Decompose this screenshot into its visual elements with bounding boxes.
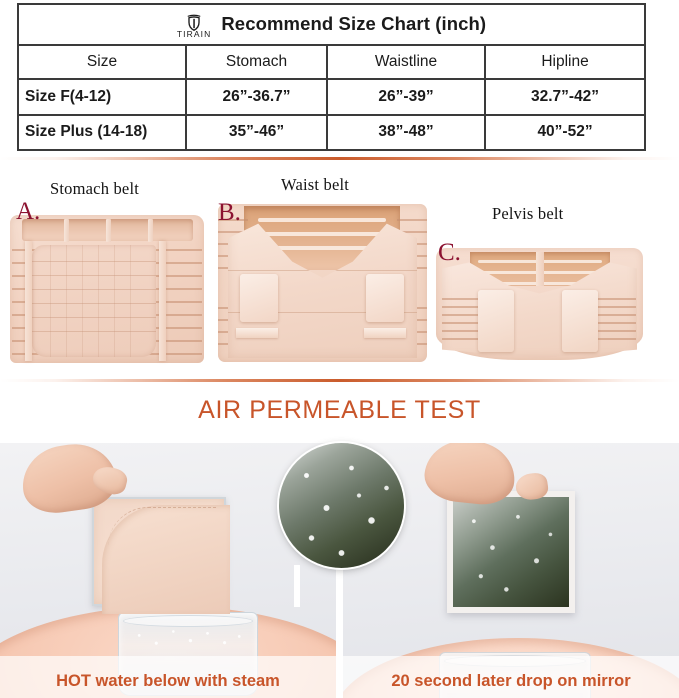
cell-waistline: 38”-48” [327, 115, 485, 151]
belt-letter-a: A. [16, 199, 40, 224]
chart-title-cell: TIRAIN Recommend Size Chart (inch) [18, 4, 645, 45]
belt-label-pelvis: Pelvis belt [492, 204, 563, 224]
belt-top-divider-1 [64, 219, 69, 242]
photo-caption-left: HOT water below with steam [0, 672, 336, 691]
belt-lower-strap-right-waist [364, 328, 406, 338]
table-title-row: TIRAIN Recommend Size Chart (inch) [18, 4, 645, 45]
column-header-waistline: Waistline [327, 45, 485, 79]
cell-hipline: 40”-52” [485, 115, 645, 151]
photo-caption-right: 20 second later drop on mirror [343, 672, 679, 691]
belt-letter-c: C. [438, 240, 461, 265]
cell-size: Size F(4-12) [18, 79, 186, 114]
cell-stomach: 35”-46” [186, 115, 327, 151]
brand-logo: TIRAIN [177, 14, 211, 39]
table-header-row: Size Stomach Waistline Hipline [18, 45, 645, 79]
belt-velcro-tab-right-pelvis [562, 290, 598, 352]
chart-title-text: Recommend Size Chart (inch) [221, 13, 486, 35]
belt-lower-strap-left-waist [236, 328, 278, 338]
fogged-mirror [447, 491, 575, 613]
belt-strap-left-stomach [25, 241, 32, 361]
belt-product-pelvis: Pelvis belt C. [436, 248, 643, 363]
belt-products-section: Stomach belt A. Waist belt B. [0, 160, 679, 379]
column-header-size: Size [18, 45, 186, 79]
belt-mesh-panel-stomach [32, 245, 156, 357]
size-chart-section: TIRAIN Recommend Size Chart (inch) Size … [0, 0, 679, 160]
belt-letter-b: B. [218, 200, 241, 225]
cell-size: Size Plus (14-18) [18, 115, 186, 151]
brand-name: TIRAIN [177, 30, 211, 39]
table-row: Size F(4-12) 26”-36.7” 26”-39” 32.7”-42” [18, 79, 645, 114]
belt-label-stomach: Stomach belt [50, 179, 139, 199]
column-header-stomach: Stomach [186, 45, 327, 79]
belt-velcro-tab-left-waist [240, 274, 278, 322]
belt-product-waist: Waist belt B. [218, 202, 427, 362]
belt-strap-right-stomach [159, 241, 166, 361]
table-row: Size Plus (14-18) 35”-46” 38”-48” 40”-52… [18, 115, 645, 151]
size-chart-table: TIRAIN Recommend Size Chart (inch) Size … [17, 3, 646, 151]
belt-top-divider-2 [106, 219, 111, 242]
belt-label-waist: Waist belt [281, 175, 349, 195]
air-permeable-test-photos: HOT water below with steam 20 second lat… [0, 443, 679, 698]
belt-top-divider-3 [148, 219, 153, 242]
cell-stomach: 26”-36.7” [186, 79, 327, 114]
belt-velcro-tab-left-pelvis [478, 290, 514, 352]
belt-product-stomach: Stomach belt A. [10, 215, 204, 363]
cell-hipline: 32.7”-42” [485, 79, 645, 114]
cell-waistline: 26”-39” [327, 79, 485, 114]
belt-velcro-tab-right-waist [366, 274, 404, 322]
belt-ribs-right-pelvis [596, 294, 636, 350]
air-permeable-test-heading: AIR PERMEABLE TEST [0, 396, 679, 425]
fabric-stitch-line [108, 507, 216, 548]
mirror-with-fabric [92, 497, 226, 606]
section-divider-middle [0, 379, 679, 382]
belt-ribs-left-pelvis [442, 294, 482, 350]
cup-droplets-left [127, 625, 249, 651]
magnifier-stem [294, 565, 300, 607]
column-header-hipline: Hipline [485, 45, 645, 79]
magnifier-droplet-closeup [279, 443, 404, 568]
